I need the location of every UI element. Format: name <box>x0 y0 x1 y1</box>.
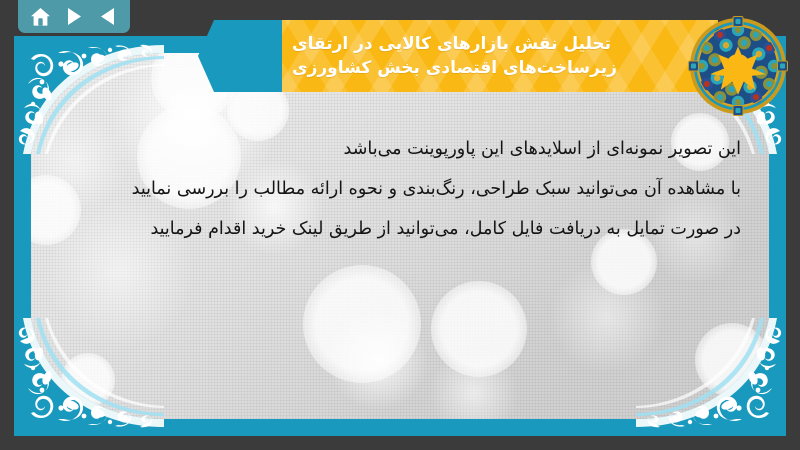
next-slide-button[interactable] <box>61 5 87 29</box>
body-line-2: با مشاهده آن می‌توانید سبک طراحی، رنگ‌بن… <box>51 170 741 210</box>
islamic-medallion-ornament-icon <box>688 16 788 116</box>
triangle-right-icon <box>66 7 83 26</box>
banner-pennant <box>198 20 284 92</box>
bokeh-circle <box>431 281 527 377</box>
presentation-slide: این تصویر نمونه‌ای از اسلایدهای این پاور… <box>0 0 800 450</box>
home-button[interactable] <box>28 5 54 29</box>
previous-slide-button[interactable] <box>94 5 120 29</box>
body-line-1: این تصویر نمونه‌ای از اسلایدهای این پاور… <box>51 130 741 170</box>
triangle-left-icon <box>99 7 116 26</box>
banner-body: تحلیل نقش بازارهای کالایی در ارتقای زیرس… <box>282 20 718 92</box>
slide-body-text: این تصویر نمونه‌ای از اسلایدهای این پاور… <box>31 130 769 250</box>
slide-title-banner: تحلیل نقش بازارهای کالایی در ارتقای زیرس… <box>198 20 718 92</box>
slide-title-line-2: زیرساخت‌های اقتصادی بخش کشاورزی <box>292 56 617 80</box>
home-icon <box>30 7 51 27</box>
slide-title-line-1: تحلیل نقش بازارهای کالایی در ارتقای <box>292 32 611 56</box>
bokeh-circle <box>695 323 769 397</box>
slide-navigation-bar <box>18 0 130 33</box>
bokeh-circle <box>303 265 421 383</box>
body-line-3: در صورت تمایل به دریافت فایل کامل، می‌تو… <box>51 210 741 250</box>
bokeh-circle <box>61 353 115 407</box>
